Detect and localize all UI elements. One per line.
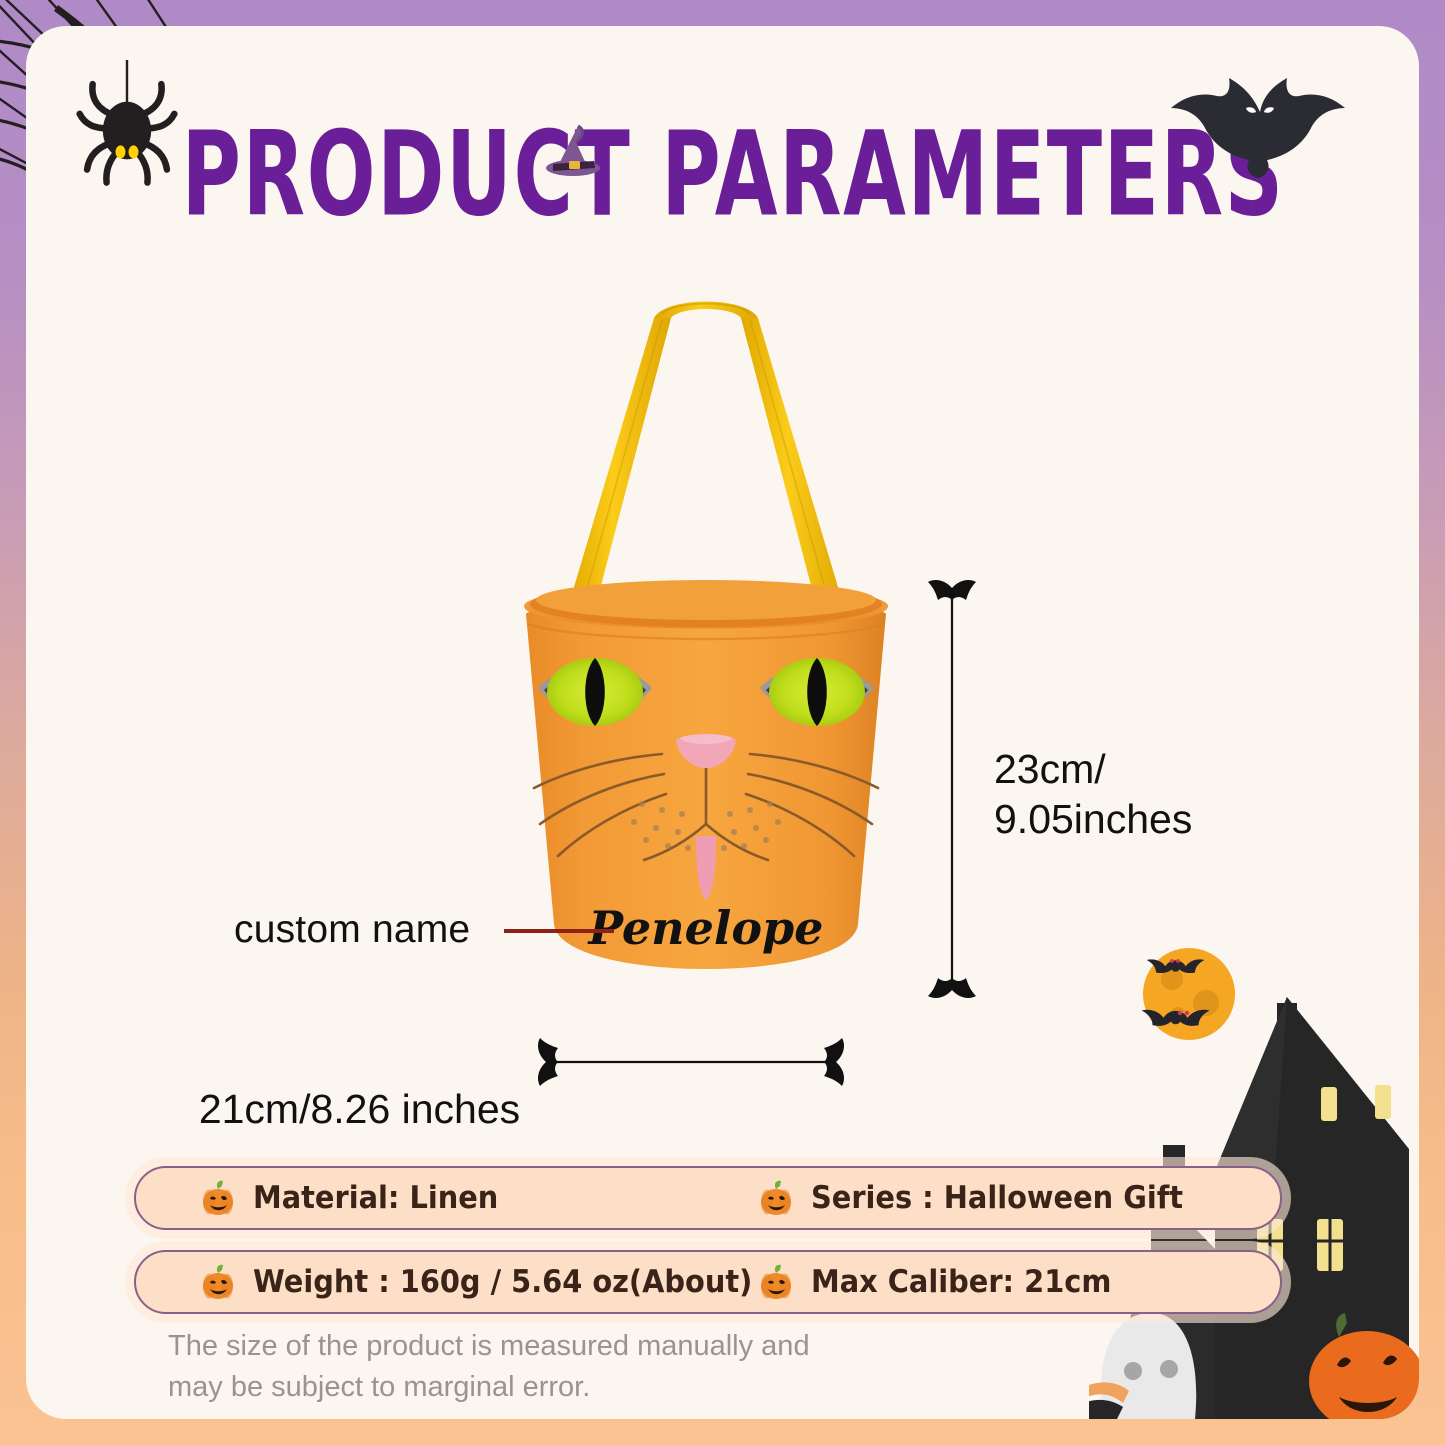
spider-icon [72, 60, 182, 190]
spec-table: Material: Linen Series : Halloween Gift [134, 1166, 1282, 1334]
custom-name-leader-line [504, 929, 614, 933]
spec-cell-max-caliber: Max Caliber: 21cm [708, 1262, 1280, 1302]
pumpkin-icon [198, 1178, 238, 1218]
disclaimer-text: The size of the product is measured manu… [168, 1326, 868, 1408]
main-card: PRODUCT PARAMETERS [26, 26, 1419, 1419]
pumpkin-icon [1309, 1313, 1419, 1419]
spec-cell-series: Series : Halloween Gift [708, 1178, 1280, 1218]
spec-text: Max Caliber: 21cm [811, 1264, 1111, 1300]
witch-hat-icon [540, 120, 610, 190]
width-dimension-label: 21cm/8.26 inches [26, 1086, 1419, 1133]
height-dimension-line [926, 574, 978, 1004]
spec-row: Weight : 160g / 5.64 oz(About) Max Calib… [134, 1250, 1282, 1314]
bat-icon [1157, 64, 1363, 194]
height-dimension-label: 23cm/ 9.05inches [994, 744, 1192, 844]
spec-cell-material: Material: Linen [136, 1178, 708, 1218]
product-image: Penelope [466, 284, 946, 1024]
pumpkin-icon [756, 1262, 796, 1302]
spec-text: Series : Halloween Gift [811, 1180, 1183, 1216]
pumpkin-icon [198, 1262, 238, 1302]
width-dimension-line [536, 1036, 846, 1088]
spec-cell-weight: Weight : 160g / 5.64 oz(About) [136, 1262, 708, 1302]
pumpkin-icon [756, 1178, 796, 1218]
spec-text: Material: Linen [253, 1180, 498, 1216]
spec-row: Material: Linen Series : Halloween Gift [134, 1166, 1282, 1230]
bag-custom-name: Penelope [587, 901, 824, 955]
bag-handle [566, 302, 846, 621]
page-title: PRODUCT PARAMETERS [182, 116, 1285, 232]
spec-text: Weight : 160g / 5.64 oz(About) [253, 1264, 752, 1300]
custom-name-callout-label: custom name [234, 908, 470, 952]
striped-ribbon [1089, 1382, 1129, 1419]
moon-bats-icon [1134, 939, 1244, 1049]
